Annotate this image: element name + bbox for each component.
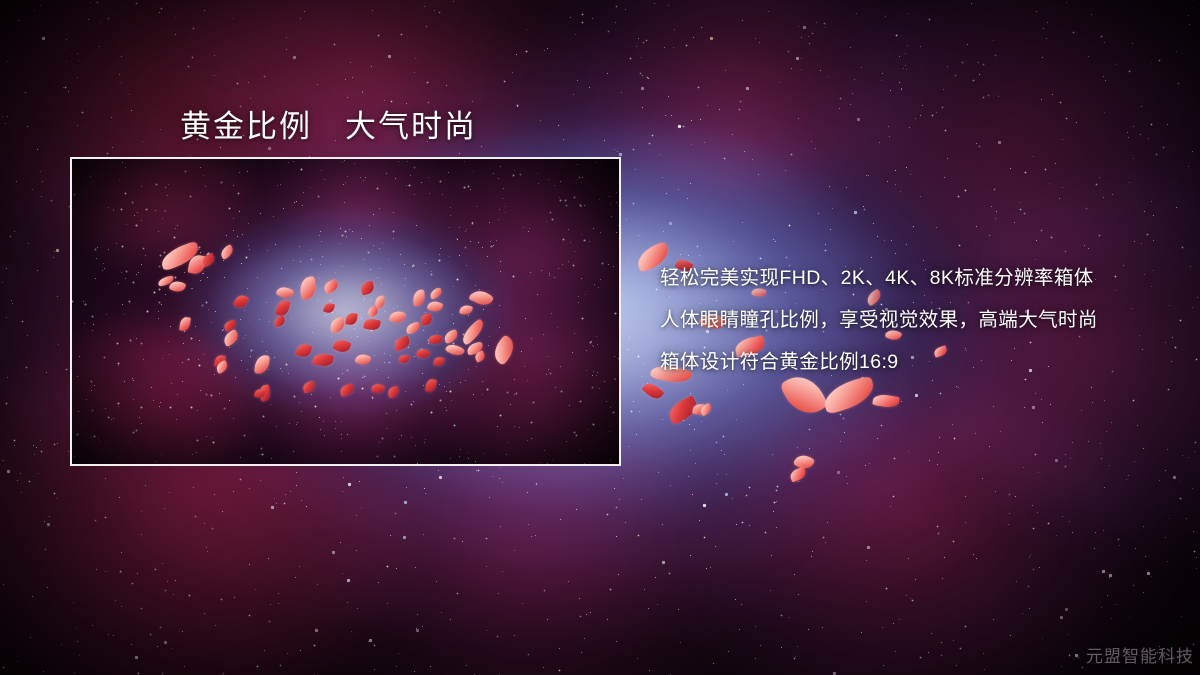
nebula-petals-image[interactable]: [70, 157, 621, 466]
watermark: 元盟智能科技: [1086, 642, 1194, 667]
presentation-slide: 黄金比例 大气时尚 轻松完美实现FHD、2K、4K、8K标准分辨率箱体 人体眼睛…: [0, 0, 1200, 675]
body-copy: 轻松完美实现FHD、2K、4K、8K标准分辨率箱体 人体眼睛瞳孔比例，享受视觉效…: [660, 257, 1190, 383]
body-line: 箱体设计符合黄金比例16:9: [660, 341, 1190, 383]
body-line: 轻松完美实现FHD、2K、4K、8K标准分辨率箱体: [660, 257, 1190, 299]
panel-vignette: [72, 159, 619, 464]
body-line: 人体眼睛瞳孔比例，享受视觉效果，高端大气时尚: [660, 299, 1190, 341]
page-title: 黄金比例 大气时尚: [180, 101, 477, 146]
